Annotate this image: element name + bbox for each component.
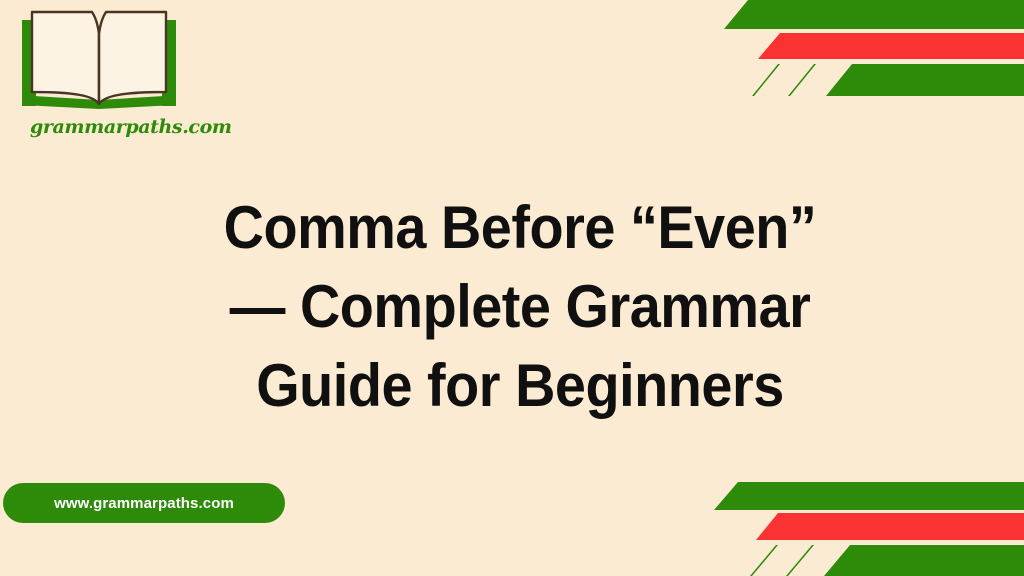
brand-logo-text: grammarpaths.com (30, 116, 232, 138)
stripe-green-bottom-lower (824, 545, 1024, 576)
stripe-slash-bottom-b (750, 545, 778, 576)
page-title-line-3: Guide for Beginners (176, 346, 864, 425)
brand-logo[interactable]: grammarpaths.com (14, 4, 189, 144)
stripe-slash-top-a (788, 64, 816, 96)
page-title: Comma Before “Even” — Complete Grammar G… (150, 188, 890, 425)
stripe-green-bottom (714, 482, 1024, 510)
website-url-label: www.grammarpaths.com (54, 495, 234, 512)
blog-title-card: grammarpaths.com Comma Before “Even” — C… (0, 0, 1024, 576)
stripe-red-bottom (756, 513, 1024, 540)
stripe-green-top-lower (826, 64, 1024, 96)
website-url-badge[interactable]: www.grammarpaths.com (3, 483, 285, 523)
page-title-line-2: — Complete Grammar (176, 267, 864, 346)
stripe-slash-top-b (752, 64, 780, 96)
stripe-green-top (724, 0, 1024, 29)
stripe-slash-bottom-a (786, 545, 814, 576)
page-title-line-1: Comma Before “Even” (176, 188, 864, 267)
stripe-red-top (758, 33, 1024, 59)
open-book-icon (14, 4, 184, 112)
